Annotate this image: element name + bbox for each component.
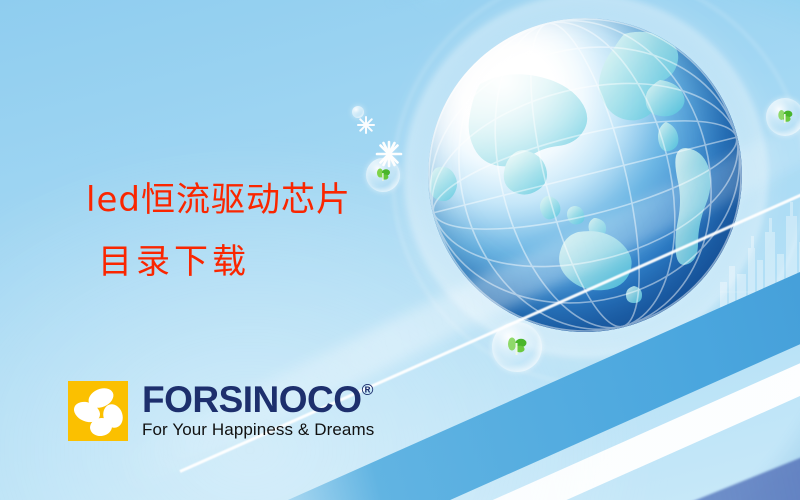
green-sprout-icon (504, 334, 530, 360)
bubble-sprout-left (366, 158, 400, 192)
registered-trademark-icon: ® (362, 382, 373, 400)
company-logo: FORSINOCO ® For Your Happiness & Dreams (68, 381, 374, 441)
four-petal-flower-icon (68, 381, 128, 441)
globe-gridlines-icon (428, 18, 742, 332)
logo-tagline: For Your Happiness & Dreams (142, 420, 374, 440)
bubble-sprout-center (492, 322, 542, 372)
headline-line-1: led恒流驱动芯片 (86, 166, 351, 234)
logo-wordmark: FORSINOCO ® (142, 381, 373, 419)
headline-line-2: 目录下载 (98, 228, 250, 296)
logo-text-block: FORSINOCO ® For Your Happiness & Dreams (142, 381, 374, 440)
bubble-sprout-right (766, 98, 800, 136)
snowflake-small-icon (356, 115, 376, 135)
green-sprout-icon (374, 166, 392, 184)
city-skyline-icon (718, 196, 800, 336)
globe-icon (428, 18, 742, 332)
four-petal-flower-shape (68, 381, 128, 441)
green-sprout-icon (775, 107, 795, 127)
slide-canvas: led恒流驱动芯片 目录下载 FORSINOCO ® For Your Happ… (0, 0, 800, 500)
bubble-small-top (352, 106, 364, 118)
logo-wordmark-text: FORSINOCO (142, 381, 362, 419)
